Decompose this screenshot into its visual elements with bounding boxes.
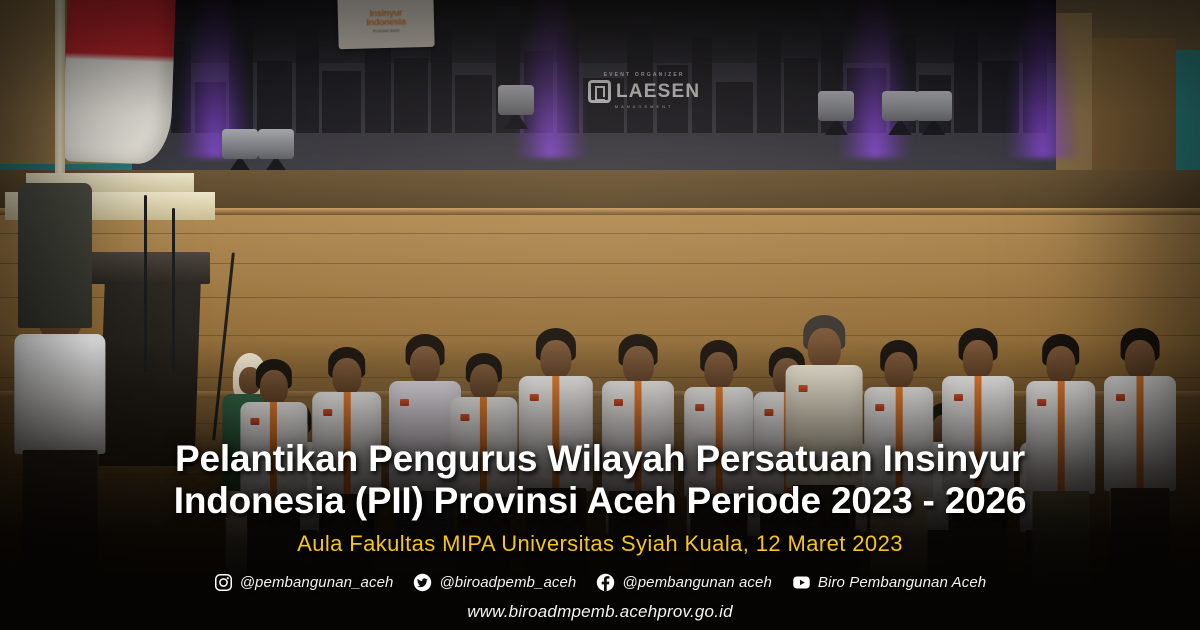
social-youtube[interactable]: Biro Pembangunan Aceh xyxy=(792,573,986,592)
title-line-2: Indonesia (PII) Provinsi Aceh Periode 20… xyxy=(0,480,1200,522)
poster-subtitle-venue-date: Aula Fakultas MIPA Universitas Syiah Kua… xyxy=(297,531,903,557)
event-poster: EVENT ORGANIZER LAESEN MANAGEMENT xyxy=(0,0,1200,630)
facebook-icon xyxy=(596,573,615,592)
website-url[interactable]: www.biroadmpemb.acehprov.go.id xyxy=(467,602,733,622)
instagram-handle: @pembangunan_aceh xyxy=(240,574,394,591)
speaker-vest xyxy=(18,183,92,328)
title-line-1: Pelantikan Pengurus Wilayah Persatuan In… xyxy=(0,438,1200,480)
twitter-icon xyxy=(413,573,432,592)
instagram-icon xyxy=(214,573,233,592)
social-instagram[interactable]: @pembangunan_aceh xyxy=(214,573,394,592)
facebook-handle: @pembangunan aceh xyxy=(622,574,772,591)
youtube-handle: Biro Pembangunan Aceh xyxy=(818,574,986,591)
social-facebook[interactable]: @pembangunan aceh xyxy=(596,573,772,592)
youtube-icon xyxy=(792,573,811,592)
twitter-handle: @biroadpemb_aceh xyxy=(439,574,576,591)
social-twitter[interactable]: @biroadpemb_aceh xyxy=(413,573,576,592)
poster-text-overlay: Pelantikan Pengurus Wilayah Persatuan In… xyxy=(0,328,1200,630)
social-media-bar: @pembangunan_aceh @biroadpemb_aceh @pemb… xyxy=(214,573,987,592)
poster-title: Pelantikan Pengurus Wilayah Persatuan In… xyxy=(0,438,1200,522)
